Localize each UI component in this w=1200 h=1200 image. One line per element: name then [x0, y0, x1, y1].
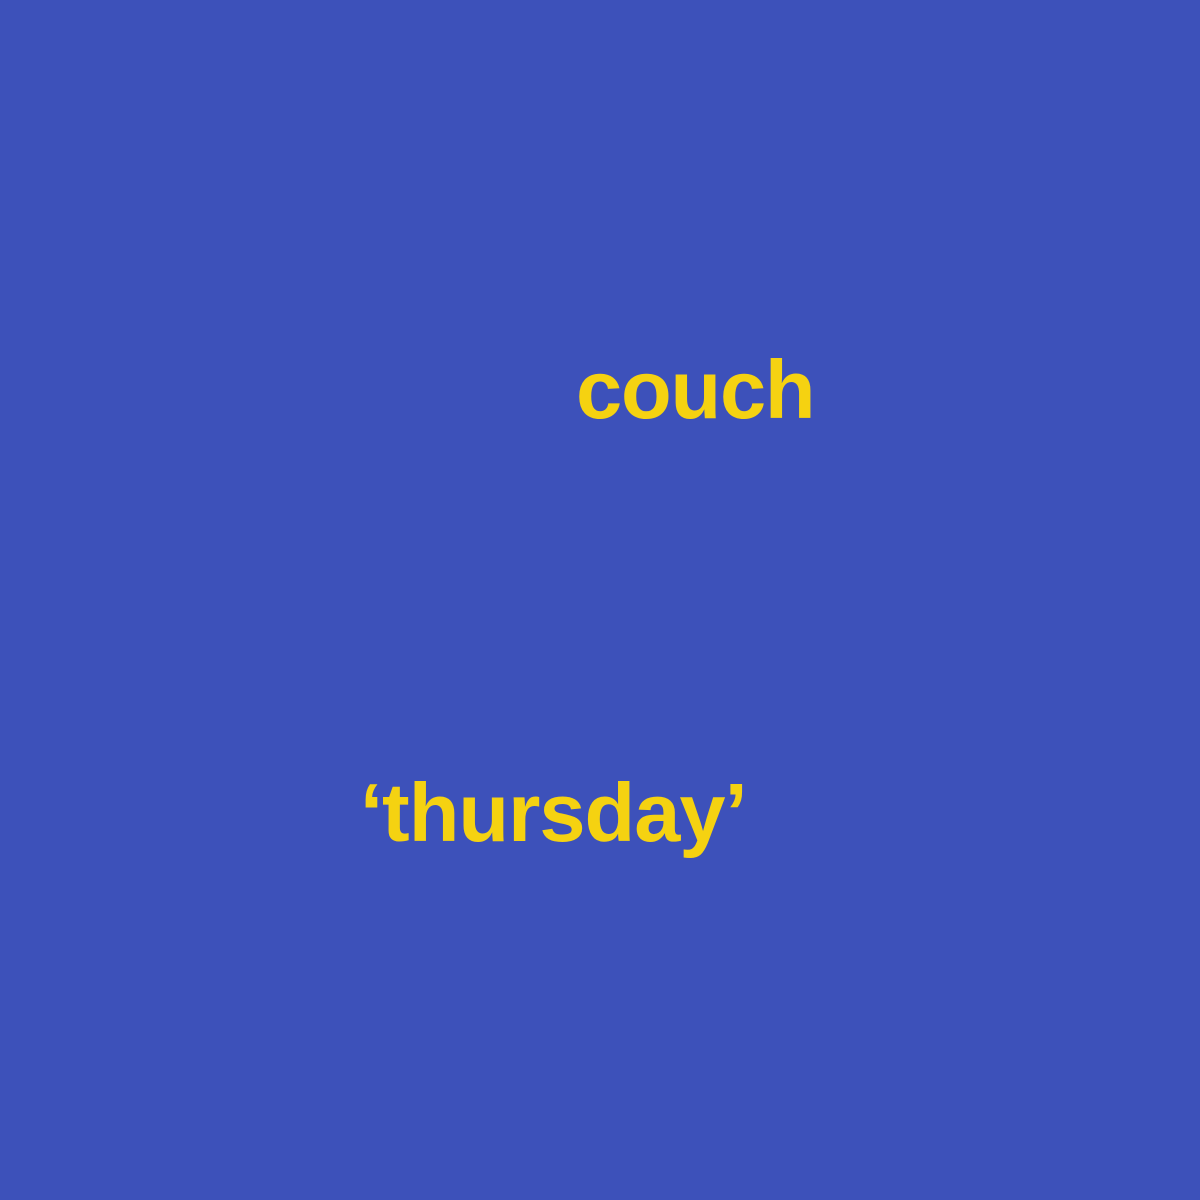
- lower-word-thursday-quoted: ‘thursday’: [360, 771, 747, 854]
- poster-canvas: couch ‘thursday’: [0, 0, 1200, 1200]
- upper-word-couch: couch: [576, 348, 814, 431]
